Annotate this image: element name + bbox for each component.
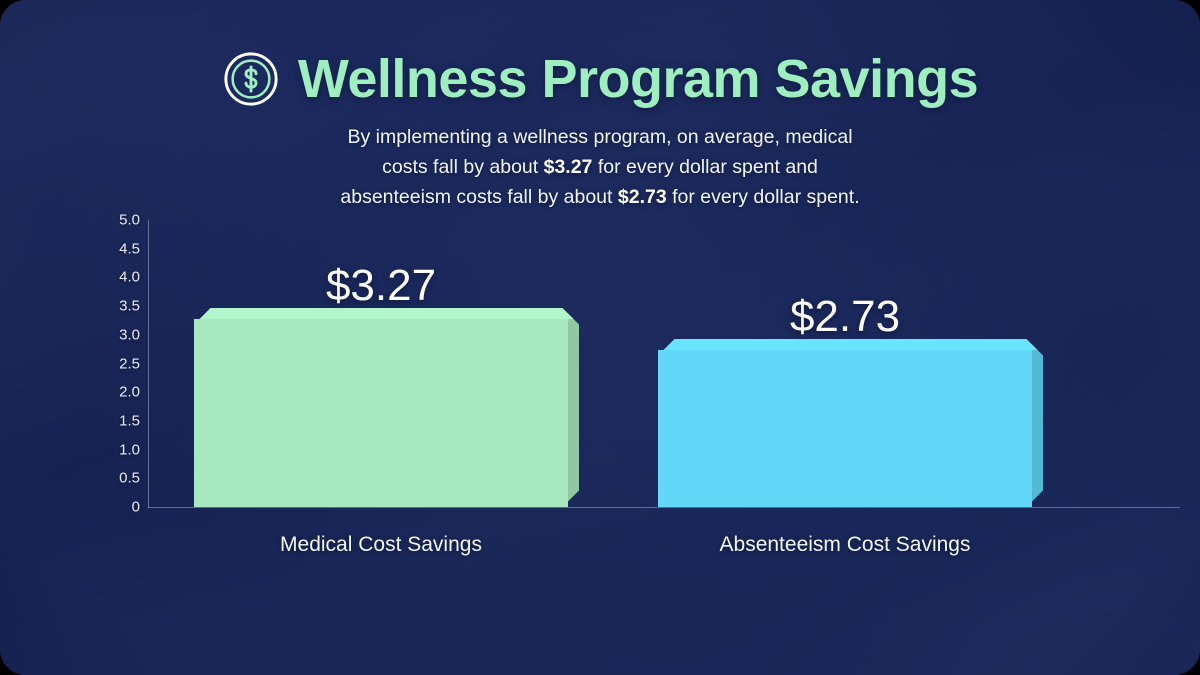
- bar-absenteeism-cost-savings[interactable]: [658, 350, 1032, 507]
- y-tick-label: 1.5: [102, 412, 140, 429]
- bar-front-face: [658, 350, 1032, 507]
- bar-side-face: [1032, 345, 1043, 502]
- y-tick-label: 2.0: [102, 384, 140, 401]
- y-tick-label: 4.5: [102, 240, 140, 257]
- category-label: Medical Cost Savings: [134, 533, 628, 557]
- bar-medical-cost-savings[interactable]: [194, 319, 568, 507]
- y-tick-label: 1.0: [102, 441, 140, 458]
- bar-value-label: $3.27: [194, 261, 568, 311]
- bar-front-face: [194, 319, 568, 507]
- category-label: Absenteeism Cost Savings: [598, 533, 1092, 557]
- y-tick-label: 2.5: [102, 355, 140, 372]
- y-axis-line: [148, 220, 149, 508]
- y-tick-label: 3.5: [102, 298, 140, 315]
- y-tick-label: 0.5: [102, 470, 140, 487]
- x-axis-baseline: [148, 507, 1180, 508]
- y-tick-label: 5.0: [102, 212, 140, 229]
- bar-side-face: [568, 314, 579, 502]
- y-axis-tick-labels: 5.04.54.03.53.02.52.01.51.00.50: [100, 0, 140, 675]
- y-tick-label: 4.0: [102, 269, 140, 286]
- infographic-canvas: Wellness Program Savings By implementing…: [0, 0, 1200, 675]
- bar-value-label: $2.73: [658, 292, 1032, 342]
- y-tick-label: 3.0: [102, 326, 140, 343]
- y-tick-label: 0: [102, 499, 140, 516]
- bar-chart: 5.04.54.03.53.02.52.01.51.00.50 $3.27Med…: [0, 0, 1200, 675]
